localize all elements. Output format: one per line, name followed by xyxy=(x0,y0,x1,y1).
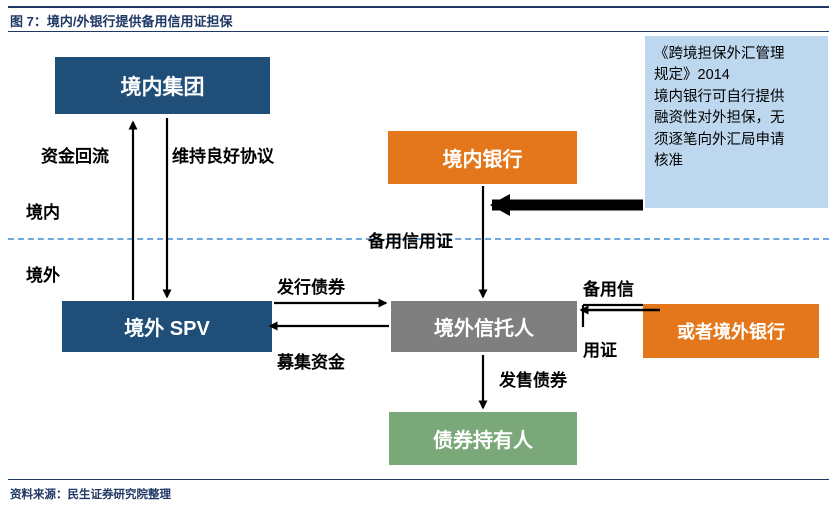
label-onshore: 境内 xyxy=(26,198,60,223)
label-keepwell-agreement: 维持良好协议 xyxy=(172,142,274,167)
arrow-sblc-offshore-bank xyxy=(580,305,643,327)
callout-line-6: 核准 xyxy=(654,151,819,172)
label-issue-bonds: 发行债券 xyxy=(277,273,345,298)
label-standby-credit-line2: 用证 xyxy=(583,336,617,361)
page-title: 图 7：境内/外银行提供备用信用证担保 xyxy=(10,11,232,30)
source-rule xyxy=(8,479,829,480)
node-domestic-bank: 境内银行 xyxy=(388,131,577,184)
label-raise-funds: 募集资金 xyxy=(277,348,345,373)
source-note: 资料来源：民生证券研究院整理 xyxy=(10,486,171,502)
title-rule-bottom xyxy=(8,31,829,32)
label-standby-credit-line1: 备用信 xyxy=(583,275,634,300)
node-offshore-trustee: 境外信托人 xyxy=(391,301,577,352)
node-offshore-bank: 或者境外银行 xyxy=(643,304,819,358)
figure-container: 图 7：境内/外银行提供备用信用证担保 境内集团 境内银行 境外 SPV 境外信… xyxy=(0,0,837,508)
label-capital-return: 资金回流 xyxy=(41,142,109,167)
label-sell-bonds: 发售债券 xyxy=(499,366,567,391)
node-bondholder: 债券持有人 xyxy=(389,412,577,465)
node-domestic-group: 境内集团 xyxy=(55,57,270,114)
node-offshore-spv: 境外 SPV xyxy=(62,301,272,352)
callout-line-1: 《跨境担保外汇管理 xyxy=(654,44,819,65)
callout-line-5: 须逐笔向外汇局申请 xyxy=(654,130,819,151)
callout-line-3: 境内银行可自行提供 xyxy=(654,87,819,108)
title-rule-top xyxy=(8,6,829,8)
label-standby-letter-of-credit: 备用信用证 xyxy=(368,227,453,252)
callout-line-2: 规定》2014 xyxy=(654,65,819,86)
callout-line-4: 融资性对外担保，无 xyxy=(654,108,819,129)
label-offshore: 境外 xyxy=(26,261,60,286)
regulation-callout: 《跨境担保外汇管理 规定》2014 境内银行可自行提供 融资性对外担保，无 须逐… xyxy=(645,36,828,208)
